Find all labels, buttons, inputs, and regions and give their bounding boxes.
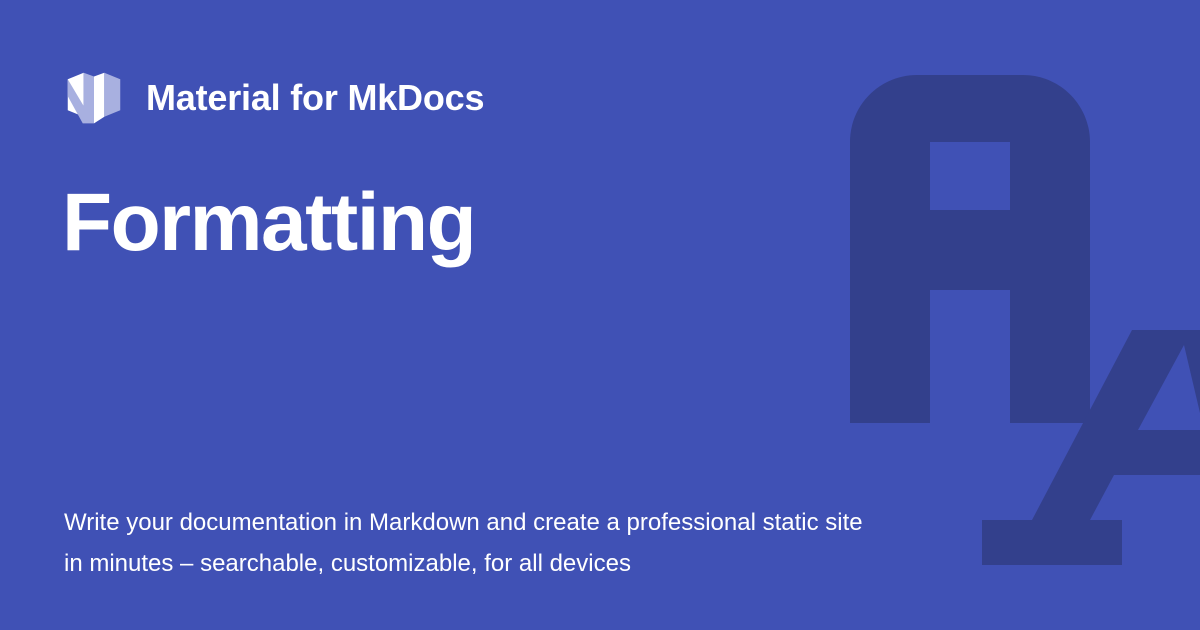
card-header: Material for MkDocs (64, 62, 484, 134)
material-mkdocs-logo-icon (64, 68, 124, 128)
site-description: Write your documentation in Markdown and… (64, 503, 879, 584)
page-title: Formatting (62, 180, 862, 266)
format-font-icon (850, 75, 1200, 565)
format-font-watermark (832, 60, 1200, 620)
social-preview-card: Material for MkDocs Formatting Write you… (0, 0, 1200, 630)
site-name: Material for MkDocs (146, 80, 484, 116)
